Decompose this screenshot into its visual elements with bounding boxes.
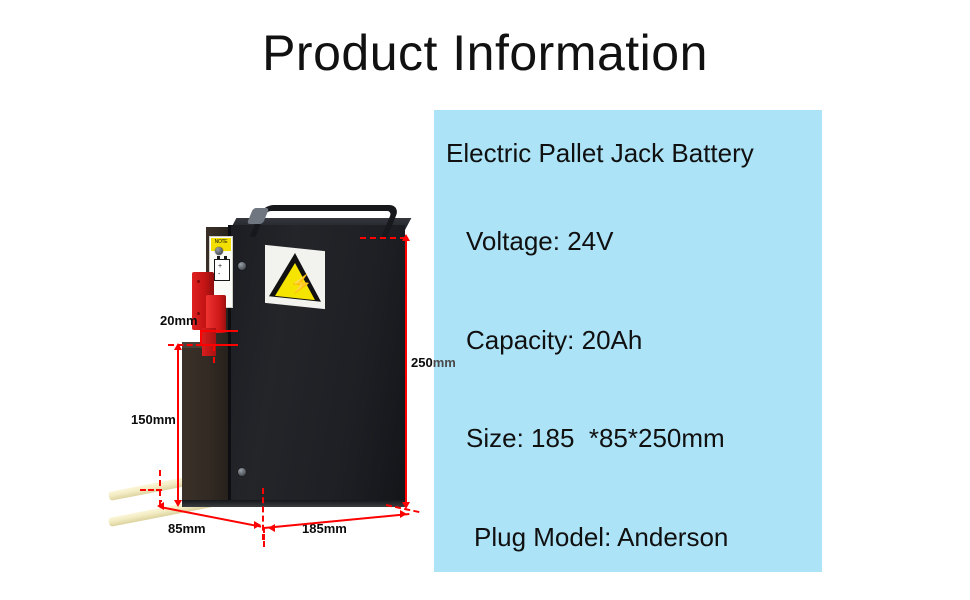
battery-pictogram-icon: + -	[214, 259, 230, 281]
front-screw-top	[238, 262, 246, 270]
connector-screw-upper	[197, 280, 200, 283]
spec-plug-model: Plug Model: Anderson	[434, 522, 862, 552]
dim-label-85mm: 85mm	[168, 521, 206, 536]
dim-arrow-85mm-right	[254, 521, 261, 529]
dim-label-150mm: 150mm	[131, 412, 176, 427]
carry-handle	[250, 205, 401, 237]
spec-product-name: Electric Pallet Jack Battery	[434, 138, 834, 168]
dim-250-number: 250	[411, 355, 433, 370]
dim-ext-85mm-left-v	[159, 470, 161, 506]
product-information-page: Product Information Electric Pallet Jack…	[0, 0, 970, 600]
dim-arrow-150mm-bottom	[174, 500, 182, 507]
dim-arrow-185mm-left	[268, 524, 275, 532]
high-voltage-warning-decal: ⚡	[265, 245, 325, 309]
dim-leader-20mm	[200, 330, 238, 332]
dim-ext-185mm-v	[263, 527, 265, 547]
battery-lower-block	[182, 348, 232, 503]
spec-voltage: Voltage: 24V	[434, 226, 854, 256]
dim-label-250mm: 250mm	[411, 355, 456, 370]
dim-250-unit: mm	[433, 355, 456, 370]
dim-ext-250mm-top	[360, 237, 406, 239]
battery-bottom-edge	[182, 500, 405, 507]
side-screw-top	[215, 247, 223, 255]
product-photo: ⚡ NOTE + -	[110, 200, 430, 570]
spec-capacity: Capacity: 20Ah	[434, 325, 854, 355]
dim-ext-20mm-v	[213, 345, 215, 363]
dim-ext-85mm-h	[140, 489, 162, 491]
dim-line-150mm	[177, 347, 179, 502]
page-title: Product Information	[0, 24, 970, 82]
lightning-bolt-icon: ⚡	[289, 274, 302, 295]
dim-base-20mm	[200, 344, 238, 346]
spec-panel: Electric Pallet Jack Battery Voltage: 24…	[434, 110, 822, 572]
front-screw-bottom	[238, 468, 246, 476]
dim-arrow-150mm-top	[174, 343, 182, 350]
dim-line-250mm	[405, 238, 407, 504]
spec-size: Size: 185 *85*250mm	[434, 423, 854, 453]
spec-list: Electric Pallet Jack Battery Voltage: 24…	[434, 110, 822, 572]
polarity-label: + -	[218, 263, 229, 279]
dim-label-20mm: 20mm	[160, 313, 198, 328]
sticker-label: NOTE	[211, 238, 231, 245]
dim-arrow-185mm-right	[400, 510, 407, 518]
